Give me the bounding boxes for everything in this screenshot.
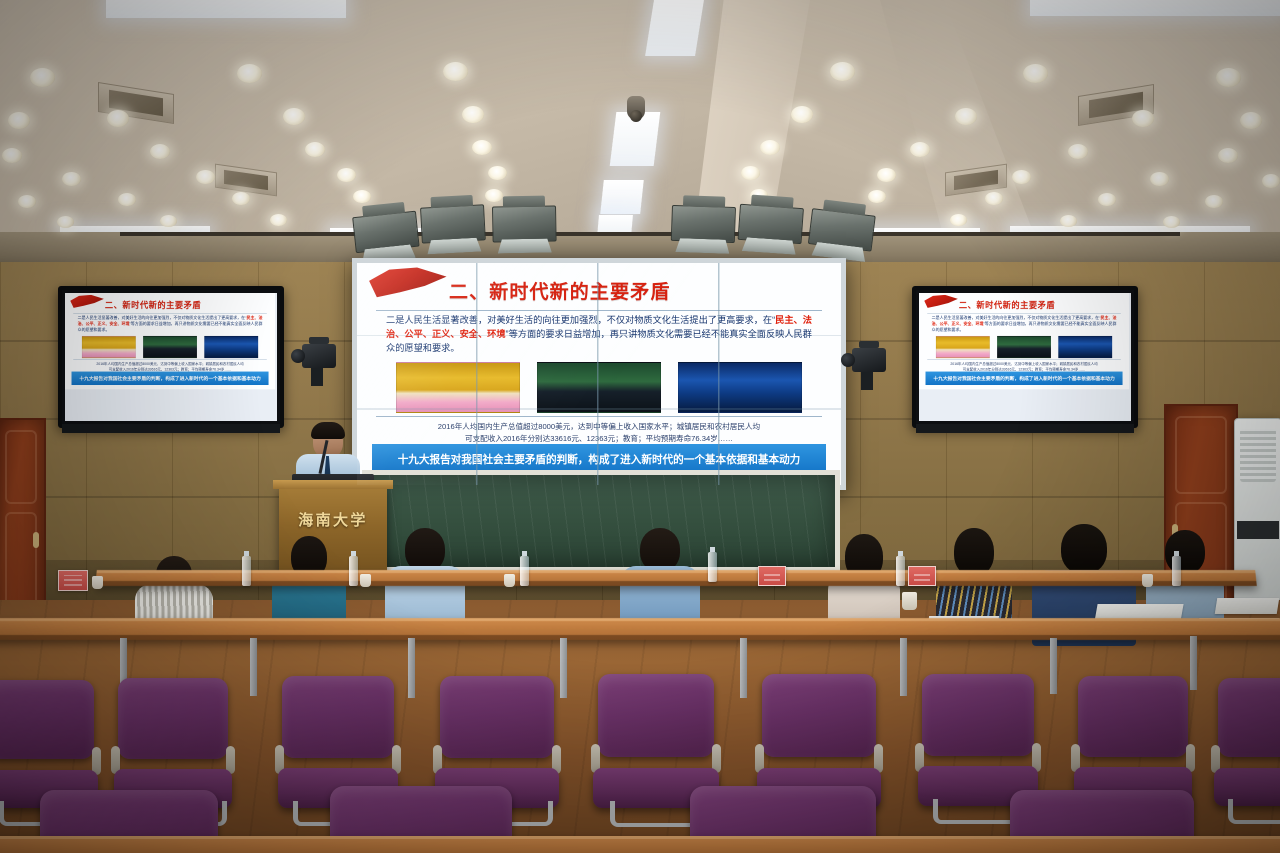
- left-side-monitor[interactable]: 二、新时代新的主要矛盾 二是人民生活显著改善，对美好生活的向往更加强烈，不仅对物…: [58, 286, 284, 428]
- slide-divider-top: [376, 310, 821, 311]
- document-sheet: [1215, 598, 1280, 614]
- water-bottle: [349, 556, 358, 586]
- water-bottle: [896, 556, 905, 586]
- concert-stage-photo: [204, 336, 258, 358]
- right-monitor-slide: 二、新时代新的主要矛盾 二是人民生活显著改善，对美好生活的向往更加强烈，不仅对物…: [919, 293, 1129, 389]
- presentation-slide: 二、新时代新的主要矛盾 二是人民生活显著改善，对美好生活的向往更加强烈，不仅对物…: [357, 263, 841, 485]
- lecture-hall-photo: 二、新时代新的主要矛盾 二是人民生活显著改善，对美好生活的向往更加强烈，不仅对物…: [0, 0, 1280, 853]
- slide-divider-bottom: [376, 416, 821, 417]
- ac-air-grill: [1240, 429, 1277, 482]
- slide-photo-row: [936, 336, 1112, 357]
- paper-cup: [504, 574, 515, 587]
- table-row: [95, 570, 1257, 586]
- slide-title: 二、新时代新的主要矛盾: [449, 277, 671, 304]
- stage-light: [492, 205, 557, 242]
- podium-engraving: 海南大学: [287, 509, 379, 530]
- stage-light: [808, 208, 876, 252]
- table-nameplate: [908, 566, 936, 586]
- floor-standing-ac: [1234, 418, 1280, 624]
- stage-light: [420, 204, 486, 243]
- slide-stats: 2016年人均国内生产总值超过8000美元，达到中等偏上收入国家水平；城镇居民和…: [401, 421, 798, 445]
- attendee-head: [1165, 530, 1205, 574]
- presenter-hair: [311, 422, 345, 439]
- main-led-video-wall[interactable]: 二、新时代新的主要矛盾 二是人民生活显著改善，对美好生活的向往更加强烈，不仅对物…: [352, 258, 846, 490]
- ceiling-light-panel: [106, 0, 346, 18]
- slide-title: 二、新时代新的主要矛盾: [105, 299, 201, 311]
- slide-body-prefix: 二是人民生活显著改善，对美好生活的向往更加强烈，不仅对物质文化生活提出了更高要求…: [78, 316, 247, 320]
- water-bottle: [520, 556, 529, 586]
- front-table-edge: [0, 836, 1280, 853]
- table-leg: [1190, 636, 1197, 690]
- stage-light: [738, 204, 804, 244]
- slide-title: 二、新时代新的主要矛盾: [959, 299, 1055, 311]
- right-side-monitor[interactable]: 二、新时代新的主要矛盾 二是人民生活显著改善，对美好生活的向往更加强烈，不仅对物…: [912, 286, 1138, 428]
- slide-ribbon-decoration: [369, 267, 446, 303]
- slide-banner: 十九大报告对我国社会主要矛盾的判断，构成了进入新时代的一个基本依据和基本动力: [71, 372, 268, 385]
- ceiling-dome-camera: [627, 96, 645, 120]
- table-leg: [900, 638, 907, 696]
- gold-coins-photo: [936, 336, 990, 358]
- slide-body-prefix: 二是人民生活显著改善，对美好生活的向往更加强烈，不仅对物质文化生活提出了更高要求…: [386, 315, 775, 325]
- ceiling-light-panel: [1030, 0, 1280, 16]
- list-item[interactable]: [1218, 678, 1280, 806]
- left-monitor-slide: 二、新时代新的主要矛盾 二是人民生活显著改善，对美好生活的向往更加强烈，不仅对物…: [65, 293, 275, 389]
- concert-stage-photo: [1058, 336, 1112, 358]
- ceiling: [0, 0, 1280, 268]
- slide-body-text: 二是人民生活显著改善，对美好生活的向往更加强烈，不仅对物质文化生活提出了更高要求…: [386, 313, 812, 356]
- classroom-photo: [537, 362, 661, 413]
- table-nameplate: [58, 570, 88, 591]
- table-leg: [740, 638, 747, 698]
- podium-top: [273, 480, 393, 489]
- slide-body-prefix: 二是人民生活显著改善，对美好生活的向往更加强烈，不仅对物质文化生活提出了更高要求…: [932, 316, 1101, 320]
- table-leg: [1050, 638, 1057, 694]
- list-item[interactable]: [1078, 676, 1188, 806]
- table-leg: [560, 638, 567, 698]
- concert-stage-photo: [678, 362, 802, 413]
- ac-control-bar: [1237, 521, 1279, 539]
- list-item[interactable]: [118, 678, 228, 808]
- attendee-head: [954, 528, 994, 576]
- slide-photo-row: [82, 336, 258, 357]
- classroom-photo: [997, 336, 1051, 358]
- stage-light: [352, 211, 419, 253]
- paper-cup: [902, 592, 917, 610]
- paper-cup: [92, 576, 103, 589]
- slide-photo-row: [396, 363, 803, 412]
- ceiling-light-panel: [645, 0, 705, 56]
- slide-banner-text: 十九大报告对我国社会主要矛盾的判断，构成了进入新时代的一个基本依据和基本动力: [79, 375, 260, 382]
- water-bottle: [708, 552, 717, 582]
- attendee-head: [1061, 524, 1107, 574]
- classroom-photo: [143, 336, 197, 358]
- table-nameplate: [758, 566, 786, 586]
- water-bottle: [1172, 556, 1181, 586]
- slide-banner-text: 十九大报告对我国社会主要矛盾的判断，构成了进入新时代的一个基本依据和基本动力: [398, 452, 801, 467]
- paper-cup: [1142, 574, 1153, 587]
- paper-cup: [360, 574, 371, 587]
- list-item[interactable]: [0, 680, 94, 808]
- table-leg: [250, 638, 257, 696]
- slide-ribbon-decoration: [924, 295, 958, 310]
- gold-coins-photo: [82, 336, 136, 358]
- table-row: [0, 618, 1280, 640]
- left-door[interactable]: [0, 418, 46, 628]
- slide-body-text: 二是人民生活显著改善，对美好生活的向往更加强烈，不仅对物质文化生活提出了更高要求…: [78, 315, 263, 334]
- gold-coins-photo: [396, 362, 520, 413]
- table-leg: [408, 638, 415, 698]
- stage-light: [671, 205, 736, 243]
- slide-banner-text: 十九大报告对我国社会主要矛盾的判断，构成了进入新时代的一个基本依据和基本动力: [933, 375, 1114, 382]
- slide-ribbon-decoration: [70, 295, 104, 310]
- slide-stats-line-1: 2016年人均国内生产总值超过8000美元，达到中等偏上收入国家水平；城镇居民和…: [401, 421, 798, 433]
- slide-banner: 十九大报告对我国社会主要矛盾的判断，构成了进入新时代的一个基本依据和基本动力: [925, 372, 1122, 385]
- list-item[interactable]: [922, 674, 1034, 806]
- slide-body-text: 二是人民生活显著改善，对美好生活的向往更加强烈，不仅对物质文化生活提出了更高要求…: [932, 315, 1117, 334]
- water-bottle: [242, 556, 251, 586]
- ceiling-light-panel: [600, 180, 644, 214]
- left-door-handle[interactable]: [33, 532, 39, 548]
